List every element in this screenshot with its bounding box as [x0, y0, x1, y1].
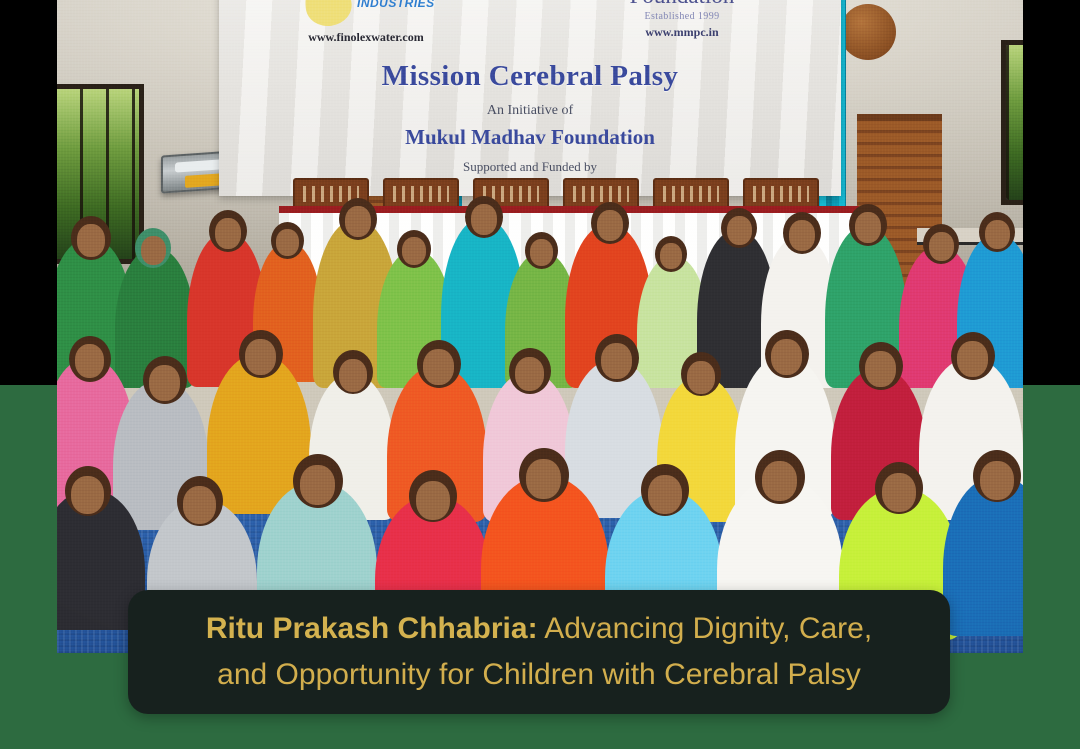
window-right: [1001, 40, 1023, 205]
person-face: [245, 339, 276, 375]
person-face: [980, 461, 1014, 500]
child-face: [276, 229, 299, 256]
person-face: [855, 212, 881, 243]
banner-supported-label: Supported and Funded by: [219, 159, 841, 175]
person-face: [601, 343, 632, 379]
person-face: [771, 339, 802, 375]
person-face: [345, 206, 371, 237]
person-face: [865, 351, 896, 387]
finolex-mark: FinOlex INDUSTRIES: [271, 0, 461, 28]
finolex-sub-label: INDUSTRIES: [357, 0, 435, 10]
caption-card: Ritu Prakash Chhabria: Advancing Dignity…: [128, 590, 950, 714]
child-face: [402, 237, 426, 265]
water-drop-icon: [302, 0, 355, 29]
child-face: [183, 486, 216, 524]
child-face: [687, 361, 715, 394]
child-face: [339, 359, 367, 392]
child-face: [530, 239, 553, 266]
mmf-established: Established 1999: [557, 11, 807, 22]
person-face: [471, 204, 497, 235]
caption-line-1-rest: Advancing Dignity, Care,: [538, 612, 873, 645]
child-face: [882, 473, 916, 512]
event-banner: FinOlex INDUSTRIES www.finolexwater.com …: [219, 0, 841, 196]
person-face: [597, 210, 623, 241]
person-face: [75, 344, 104, 378]
finolex-website: www.finolexwater.com: [271, 30, 461, 45]
window-grille: [1006, 45, 1023, 200]
mmf-name-bottom: Foundation: [557, 0, 807, 9]
person-face: [929, 232, 954, 261]
child-face: [660, 243, 682, 269]
banner-title: Mission Cerebral Palsy: [219, 60, 841, 93]
wall-clock-right: [840, 4, 896, 60]
caption-subject-name: Ritu Prakash Chhabria:: [206, 612, 538, 645]
child-face: [149, 365, 180, 401]
person-face: [141, 236, 166, 265]
child-face: [648, 475, 682, 514]
person-face: [727, 216, 752, 245]
banner-initiative-label: An Initiative of: [219, 103, 841, 119]
person-face: [957, 341, 988, 377]
person-face: [762, 461, 797, 501]
person-face: [526, 459, 561, 499]
caption-line-2: and Opportunity for Children with Cerebr…: [217, 652, 861, 698]
foundation-logo-mmf: Mukul Madhav Foundation Established 1999…: [557, 0, 807, 40]
mmf-website: www.mmpc.in: [557, 25, 807, 40]
person-face: [423, 349, 454, 385]
child-face: [515, 357, 544, 391]
child-face: [416, 481, 450, 520]
banner-text-block: Mission Cerebral Palsy An Initiative of …: [219, 60, 841, 175]
child-face: [71, 476, 104, 514]
hero-card: FinOlex INDUSTRIES www.finolexwater.com …: [0, 0, 1080, 749]
person-face: [215, 218, 241, 249]
person-face: [77, 224, 105, 257]
child-face: [300, 465, 335, 505]
audience-group: [57, 190, 1023, 653]
event-photo: FinOlex INDUSTRIES www.finolexwater.com …: [57, 0, 1023, 653]
sponsor-logo-finolex: FinOlex INDUSTRIES www.finolexwater.com: [271, 0, 461, 45]
caption-line-1: Ritu Prakash Chhabria: Advancing Dignity…: [206, 606, 872, 652]
person-face: [985, 220, 1010, 249]
banner-organisation: Mukul Madhav Foundation: [219, 125, 841, 150]
person-face: [789, 220, 815, 251]
